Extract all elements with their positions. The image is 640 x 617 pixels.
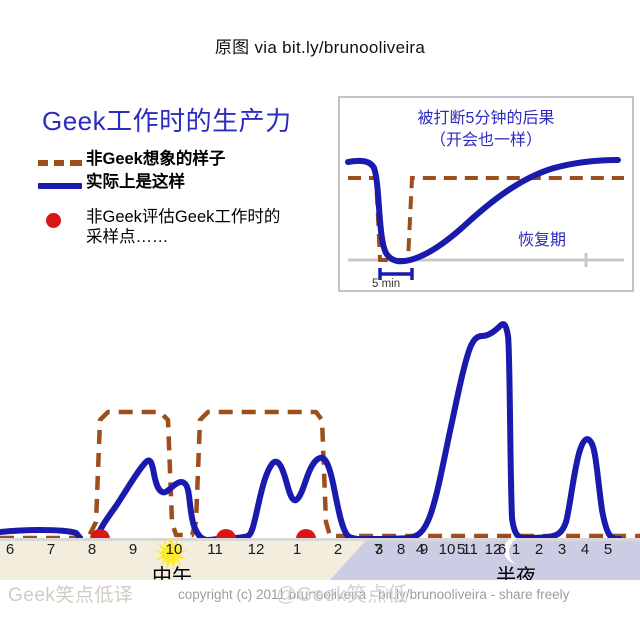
main-chart-svg: [0, 292, 640, 540]
legend-sample-line2: 采样点……: [86, 228, 169, 246]
tick-label: 2: [334, 541, 342, 558]
solid-line-icon: [38, 171, 86, 193]
imagined-productivity-curve: [0, 412, 640, 538]
poster-root: 原图 via bit.ly/brunooliveira Geek工作时的生产力 …: [0, 0, 640, 617]
inset-imagined-curve: [348, 178, 624, 260]
tick-label: 10: [166, 541, 183, 558]
legend-item-imagined: 非Geek想象的样子: [38, 148, 338, 170]
legend-block: Geek工作时的生产力 非Geek想象的样子 实际上是这样 非Geek评估Gee…: [38, 108, 338, 248]
tick-label: 8: [88, 541, 96, 558]
legend-item-actual: 实际上是这样: [38, 171, 338, 193]
tick-label: 4: [416, 541, 424, 558]
legend-item-sample-label: 非Geek评估Geek工作时的 采样点……: [86, 207, 280, 247]
inset-duration-label: 5 min: [372, 278, 400, 290]
time-axis: 6 7 8 9 10 11 12 1 2 3 4 5 6 中午 半夜: [0, 538, 640, 580]
noon-label: 中午: [152, 560, 192, 580]
main-chart: [0, 292, 640, 540]
tick-label: 12: [248, 541, 265, 558]
top-credit: 原图 via bit.ly/brunooliveira: [0, 33, 640, 58]
tick-label: 3: [375, 541, 383, 558]
legend-item-actual-label: 实际上是这样: [86, 171, 185, 193]
tick-label: 1: [293, 541, 301, 558]
legend-sample-line1: 非Geek评估Geek工作时的: [86, 208, 280, 226]
tick-label: 5: [457, 541, 465, 558]
red-dot-icon: [38, 207, 86, 229]
axis-tick-labels: 6 7 8 9 10 11 12 1 2 3 4 5 6: [0, 538, 640, 562]
legend-item-sample: 非Geek评估Geek工作时的 采样点……: [38, 207, 338, 247]
inset-actual-curve: [348, 160, 618, 261]
tick-label: 6: [498, 541, 506, 558]
tick-label: 7: [47, 541, 55, 558]
inset-panel: 被打断5分钟的后果 （开会也一样） 恢复期: [338, 96, 634, 292]
actual-productivity-curve: [0, 324, 620, 540]
chart-title: Geek工作时的生产力: [42, 108, 338, 134]
watermark-bottom-center: @Geek笑点低: [276, 578, 408, 607]
tick-label: 6: [6, 541, 14, 558]
dashed-line-icon: [38, 148, 86, 170]
tick-label: 9: [129, 541, 137, 558]
legend-item-imagined-label: 非Geek想象的样子: [86, 148, 225, 170]
inset-chart-svg: [340, 98, 632, 290]
tick-label: 11: [207, 541, 223, 558]
midnight-label: 半夜: [496, 560, 536, 580]
watermark-bottom-left: Geek笑点低译: [8, 580, 133, 607]
